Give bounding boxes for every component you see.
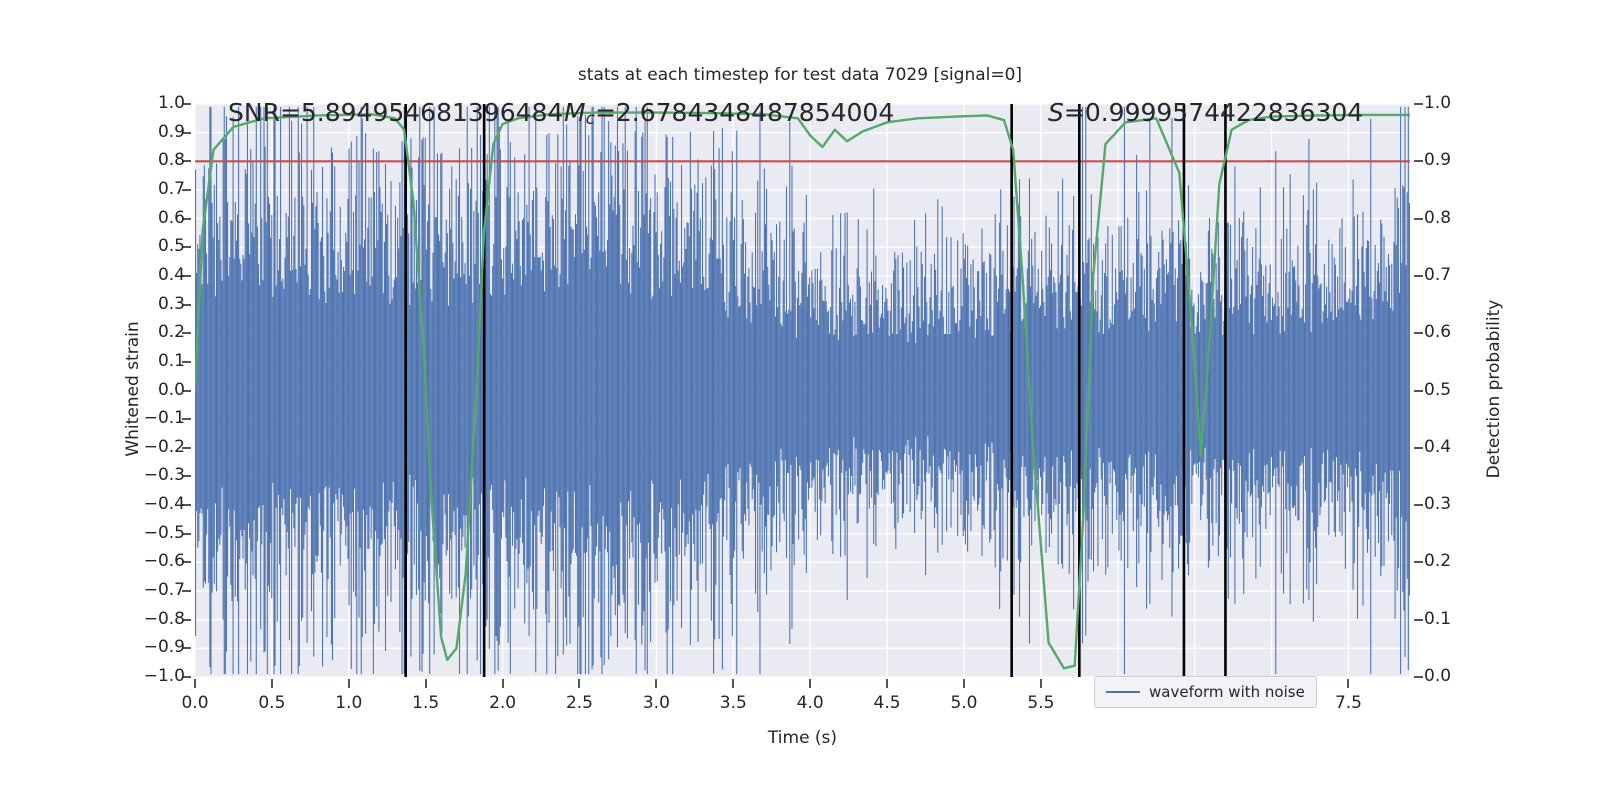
waveform-sample: [408, 233, 409, 542]
waveform-sample: [1163, 240, 1164, 544]
waveform-sample: [1291, 315, 1292, 486]
waveform-sample: [1231, 279, 1232, 504]
waveform-sample: [346, 242, 347, 526]
legend-label-waveform-with-noise: waveform with noise: [1149, 683, 1305, 701]
waveform-sample: [1240, 304, 1241, 466]
waveform-sample: [1025, 324, 1026, 467]
y-axis-left-tick-label: −0.4: [144, 494, 185, 514]
waveform-sample: [1061, 245, 1062, 564]
waveform-sample: [212, 203, 213, 592]
waveform-sample: [1202, 282, 1203, 494]
waveform-sample: [764, 169, 765, 573]
waveform-sample: [325, 303, 326, 486]
waveform-sample: [1228, 223, 1229, 599]
waveform-sample: [1006, 289, 1007, 478]
waveform-sample: [1200, 272, 1201, 520]
waveform-sample: [466, 284, 467, 515]
waveform-sample: [579, 117, 580, 674]
waveform-sample: [323, 256, 324, 531]
waveform-sample: [333, 250, 334, 503]
waveform-sample: [1131, 278, 1132, 493]
waveform-sample: [248, 223, 249, 523]
waveform-sample: [299, 153, 300, 667]
waveform-sample: [357, 271, 358, 512]
waveform-sample: [785, 311, 786, 460]
waveform-sample: [353, 212, 354, 592]
waveform-sample: [627, 151, 628, 639]
waveform-sample: [491, 296, 492, 485]
axis-tick: [732, 679, 734, 688]
waveform-sample: [770, 233, 771, 571]
waveform-sample: [1274, 304, 1275, 469]
waveform-sample: [1230, 225, 1231, 557]
waveform-sample: [457, 274, 458, 508]
waveform-sample: [1118, 226, 1119, 550]
waveform-sample: [1074, 282, 1075, 488]
waveform-sample: [767, 267, 768, 515]
waveform-sample: [1057, 328, 1058, 457]
waveform-sample: [902, 253, 903, 518]
waveform-sample: [423, 137, 424, 653]
waveform-sample: [789, 122, 790, 644]
waveform-sample: [1308, 139, 1309, 600]
waveform-sample: [716, 259, 717, 522]
waveform-sample: [877, 300, 878, 493]
waveform-sample: [1248, 275, 1249, 491]
waveform-sample: [713, 131, 714, 674]
waveform-sample: [842, 320, 843, 459]
waveform-sample: [794, 229, 795, 566]
waveform-sample: [757, 181, 758, 612]
waveform-sample: [848, 285, 849, 495]
waveform-sample: [652, 296, 653, 484]
waveform-sample: [551, 270, 552, 512]
waveform-sample: [363, 247, 364, 509]
legend[interactable]: waveform with noise: [1094, 676, 1317, 708]
waveform-sample: [1235, 269, 1236, 508]
waveform-sample: [685, 249, 686, 547]
waveform-sample: [1386, 267, 1387, 498]
waveform-sample: [630, 294, 631, 491]
waveform-sample: [1036, 296, 1037, 489]
waveform-sample: [634, 245, 635, 517]
waveform-sample: [1353, 179, 1354, 589]
waveform-sample: [385, 164, 386, 651]
waveform-sample: [510, 142, 511, 674]
waveform-sample: [1347, 302, 1348, 487]
waveform-sample: [571, 227, 572, 564]
waveform-sample: [451, 166, 452, 598]
waveform-sample: [1290, 174, 1291, 604]
waveform-sample: [398, 248, 399, 530]
waveform-sample: [527, 222, 528, 569]
waveform-sample: [837, 315, 838, 455]
y-axis-right-label: Detection probability: [1484, 269, 1504, 509]
waveform-sample: [1361, 247, 1362, 508]
x-axis-tick-label: 0.0: [160, 693, 230, 713]
waveform-sample: [1169, 228, 1170, 547]
waveform-sample: [1155, 322, 1156, 455]
waveform-sample: [1105, 243, 1106, 574]
y-axis-left-tick-label: 0.5: [158, 236, 185, 256]
waveform-sample: [829, 333, 830, 448]
waveform-sample: [1357, 214, 1358, 618]
waveform-sample: [1389, 265, 1390, 504]
waveform-sample: [585, 115, 586, 674]
waveform-sample: [679, 261, 680, 555]
waveform-sample: [808, 284, 809, 499]
waveform-sample: [1325, 304, 1326, 500]
waveform-sample: [1293, 267, 1294, 508]
waveform-sample: [817, 269, 818, 540]
waveform-sample: [614, 197, 615, 578]
waveform-sample: [1285, 273, 1286, 509]
waveform-sample: [252, 163, 253, 576]
waveform-sample: [889, 336, 890, 453]
y-axis-right-label-container: Detection probability: [1462, 0, 1492, 800]
x-axis-tick-label: 7.5: [1313, 693, 1383, 713]
waveform-sample: [859, 277, 860, 495]
waveform-sample: [456, 179, 457, 597]
waveform-sample: [949, 334, 950, 451]
waveform-sample: [352, 270, 353, 512]
waveform-sample: [632, 226, 633, 558]
waveform-sample: [462, 242, 463, 536]
waveform-sample: [1256, 285, 1257, 480]
waveform-sample: [748, 268, 749, 525]
waveform-sample: [974, 287, 975, 500]
waveform-sample: [944, 334, 945, 449]
waveform-sample: [907, 342, 908, 440]
waveform-sample: [254, 237, 255, 520]
waveform-sample: [473, 211, 474, 565]
waveform-sample: [1167, 274, 1168, 520]
waveform-sample: [319, 299, 320, 493]
axis-tick: [809, 679, 811, 688]
waveform-sample: [1221, 295, 1222, 495]
waveform-sample: [1271, 320, 1272, 457]
waveform-sample: [671, 296, 672, 508]
waveform-sample: [1261, 264, 1262, 507]
waveform-sample: [1126, 277, 1127, 479]
waveform-sample: [780, 324, 781, 449]
waveform-sample: [368, 197, 369, 548]
waveform-sample: [1222, 335, 1223, 460]
waveform-sample: [526, 205, 527, 583]
annotation-snr-prefix: SNR=: [228, 98, 301, 127]
x-axis-tick-label: 0.5: [237, 693, 307, 713]
y-axis-left-tick-label: 0.4: [158, 265, 185, 285]
waveform-sample: [888, 310, 889, 470]
waveform-sample: [337, 252, 338, 521]
waveform-sample: [957, 240, 958, 536]
waveform-sample: [321, 237, 322, 572]
waveform-sample: [400, 236, 401, 539]
waveform-sample: [810, 317, 811, 462]
waveform-sample: [1137, 239, 1138, 519]
waveform-sample: [283, 289, 284, 499]
waveform-sample: [733, 240, 734, 558]
waveform-sample: [1336, 317, 1337, 457]
waveform-sample: [803, 232, 804, 531]
waveform-sample: [1406, 265, 1407, 521]
waveform-sample: [710, 238, 711, 529]
waveform-sample: [1345, 247, 1346, 569]
waveform-sample: [843, 256, 844, 521]
waveform-sample: [296, 269, 297, 504]
waveform-sample: [355, 195, 356, 596]
waveform-sample: [1258, 272, 1259, 498]
waveform-sample: [1227, 223, 1228, 549]
waveform-sample: [1213, 299, 1214, 469]
waveform-sample: [702, 183, 703, 563]
y-axis-left-tick-label: 0.2: [158, 322, 185, 342]
waveform-sample: [1249, 323, 1250, 453]
waveform-sample: [814, 308, 815, 477]
waveform-sample: [693, 211, 694, 544]
annotation-s-value: 0.9999574422836304: [1085, 98, 1363, 127]
waveform-sample: [812, 283, 813, 481]
waveform-sample: [788, 310, 789, 474]
waveform-sample: [635, 131, 636, 640]
waveform-sample: [966, 278, 967, 501]
waveform-sample: [732, 151, 733, 636]
waveform-sample: [659, 288, 660, 512]
waveform-sample: [667, 137, 668, 674]
waveform-sample: [1107, 226, 1108, 567]
waveform-sample: [1153, 289, 1154, 495]
waveform-sample: [201, 266, 202, 509]
waveform-sample: [557, 134, 558, 656]
waveform-sample: [754, 288, 755, 512]
waveform-sample: [1073, 196, 1074, 609]
y-axis-right-tick-label: 0.0: [1424, 666, 1451, 686]
waveform-sample: [1140, 253, 1141, 526]
waveform-sample: [213, 238, 214, 557]
waveform-sample: [568, 166, 569, 597]
waveform-sample: [661, 231, 662, 553]
x-axis-tick-label: 5.0: [929, 693, 999, 713]
waveform-sample: [873, 188, 874, 544]
waveform-sample: [563, 107, 564, 655]
waveform-sample: [490, 294, 491, 490]
waveform-sample: [825, 286, 826, 503]
waveform-sample: [682, 267, 683, 533]
waveform-sample: [1179, 244, 1180, 545]
waveform-sample: [272, 297, 273, 483]
annotation-s-prefix: S: [1048, 98, 1064, 127]
waveform-sample: [1270, 264, 1271, 515]
waveform-sample: [542, 253, 543, 537]
waveform-sample: [621, 254, 622, 516]
waveform-sample: [331, 147, 332, 644]
waveform-sample: [362, 119, 363, 638]
waveform-sample: [1160, 304, 1161, 485]
waveform-sample: [465, 263, 466, 547]
waveform-sample: [935, 270, 936, 507]
axis-tick: [194, 679, 196, 688]
waveform-sample: [1317, 276, 1318, 527]
waveform-sample: [294, 198, 295, 547]
waveform-sample: [953, 286, 954, 493]
waveform-sample: [915, 343, 916, 437]
waveform-sample: [290, 271, 291, 489]
waveform-sample: [1311, 332, 1312, 448]
y-axis-left-tick-label: 0.3: [158, 294, 185, 314]
waveform-sample: [381, 212, 382, 545]
waveform-sample: [983, 263, 984, 525]
waveform-sample: [1319, 285, 1320, 515]
waveform-sample: [197, 244, 198, 547]
waveform-sample: [208, 168, 209, 583]
waveform-sample: [745, 242, 746, 521]
waveform-sample: [1018, 204, 1019, 559]
waveform-sample: [1303, 195, 1304, 603]
waveform-sample: [617, 107, 618, 647]
waveform-sample: [899, 290, 900, 485]
x-axis-tick-label: 1.5: [391, 693, 461, 713]
waveform-sample: [566, 125, 567, 646]
waveform-sample: [463, 274, 464, 515]
waveform-sample: [787, 314, 788, 473]
waveform-sample: [238, 107, 239, 674]
waveform-sample: [1145, 318, 1146, 454]
waveform-sample: [1040, 306, 1041, 478]
waveform-sample: [328, 233, 329, 579]
waveform-sample: [1370, 119, 1371, 675]
waveform-sample: [930, 297, 931, 466]
waveform-sample: [379, 187, 380, 556]
axis-tick: [1414, 561, 1423, 563]
waveform-sample: [1408, 107, 1409, 670]
waveform-sample: [862, 321, 863, 463]
waveform-sample: [816, 320, 817, 460]
waveform-sample: [1312, 283, 1313, 513]
axis-tick: [271, 679, 273, 688]
waveform-sample: [719, 148, 720, 639]
waveform-sample: [241, 280, 242, 536]
waveform-sample: [578, 165, 579, 626]
waveform-sample: [894, 252, 895, 529]
waveform-sample: [1380, 220, 1381, 577]
x-axis-tick-label: 3.0: [621, 693, 691, 713]
waveform-sample: [256, 107, 257, 674]
waveform-sample: [318, 223, 319, 556]
waveform-sample: [309, 295, 310, 510]
waveform-sample: [976, 319, 977, 467]
waveform-sample: [1106, 276, 1107, 505]
waveform-sample: [658, 255, 659, 538]
waveform-sample: [1058, 191, 1059, 564]
waveform-sample: [926, 302, 927, 473]
waveform-sample: [258, 264, 259, 508]
waveform-sample: [584, 250, 585, 553]
waveform-sample: [1391, 264, 1392, 536]
waveform-sample: [1209, 218, 1210, 561]
waveform-sample: [972, 311, 973, 472]
axis-tick: [1040, 679, 1042, 688]
waveform-sample: [291, 121, 292, 674]
waveform-sample: [459, 148, 460, 674]
annotation-mc-equals: =: [595, 98, 616, 127]
waveform-sample: [1383, 237, 1384, 566]
waveform-sample: [681, 165, 682, 628]
waveform-sample: [651, 299, 652, 481]
waveform-sample: [439, 241, 440, 578]
waveform-sample: [804, 223, 805, 555]
waveform-sample: [852, 295, 853, 494]
waveform-sample: [1005, 309, 1006, 468]
waveform-sample: [867, 229, 868, 578]
waveform-sample: [934, 254, 935, 528]
waveform-sample: [1243, 211, 1244, 594]
waveform-sample: [688, 223, 689, 544]
y-axis-left-tick-label: −0.6: [144, 551, 185, 571]
waveform-sample: [622, 143, 623, 594]
waveform-sample: [567, 284, 568, 492]
x-axis-tick-label: 2.0: [468, 693, 538, 713]
waveform-sample: [303, 205, 304, 549]
waveform-sample: [223, 139, 224, 619]
annotation-s: S=0.9999574422836304: [1048, 98, 1363, 127]
waveform-sample: [515, 231, 516, 549]
waveform-sample: [307, 107, 308, 643]
waveform-sample: [590, 258, 591, 526]
waveform-sample: [209, 107, 210, 667]
waveform-sample: [998, 289, 999, 491]
waveform-sample: [742, 200, 743, 551]
waveform-sample: [884, 302, 885, 489]
waveform-sample: [1150, 236, 1151, 552]
waveform-sample: [849, 302, 850, 468]
waveform-sample: [216, 163, 217, 591]
waveform-sample: [519, 221, 520, 554]
y-axis-left-tick-label: −0.8: [144, 609, 185, 629]
waveform-sample: [1398, 208, 1399, 568]
waveform-sample: [367, 227, 368, 549]
waveform-sample: [1335, 265, 1336, 537]
waveform-sample: [1100, 320, 1101, 458]
waveform-sample: [530, 234, 531, 566]
waveform-sample: [826, 301, 827, 466]
waveform-sample: [436, 217, 437, 575]
waveform-sample: [493, 244, 494, 533]
waveform-sample: [407, 214, 408, 554]
waveform-sample: [1245, 297, 1246, 481]
waveform-sample: [534, 257, 535, 525]
waveform-sample: [1364, 272, 1365, 510]
waveform-sample: [1215, 318, 1216, 459]
waveform-sample: [806, 195, 807, 573]
waveform-sample: [593, 107, 594, 666]
waveform-sample: [588, 135, 589, 674]
waveform-sample: [1294, 266, 1295, 506]
waveform-sample: [865, 298, 866, 484]
y-axis-left-label-container: Whitened strain: [101, 0, 131, 800]
waveform-sample: [901, 308, 902, 474]
waveform-sample: [561, 166, 562, 588]
waveform-sample: [607, 240, 608, 552]
waveform-sample: [1095, 291, 1096, 488]
waveform-sample: [1375, 245, 1376, 557]
waveform-sample: [1360, 320, 1361, 472]
waveform-sample: [1054, 283, 1055, 499]
waveform-sample: [1229, 308, 1230, 469]
waveform-sample: [1049, 227, 1050, 547]
waveform-sample: [951, 237, 952, 527]
waveform-sample: [740, 305, 741, 468]
waveform-sample: [518, 192, 519, 588]
